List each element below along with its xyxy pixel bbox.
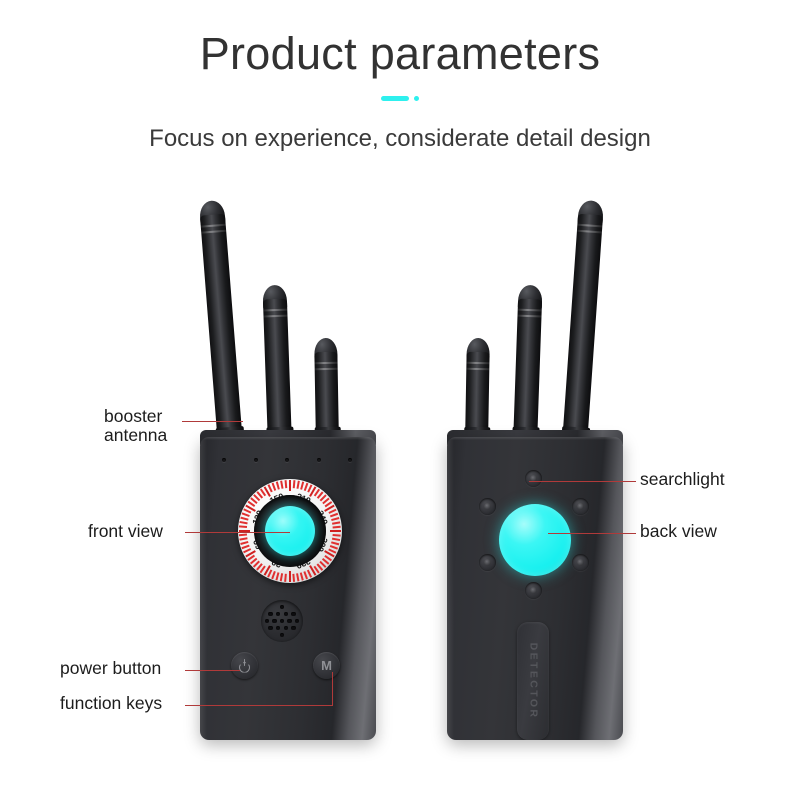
callout-booster-antenna: booster antenna <box>104 407 167 446</box>
dial-tick <box>331 541 339 545</box>
callout-back-view-label: back view <box>640 522 717 542</box>
dial-tick <box>280 573 283 581</box>
leader-line-function-keys-horizontal <box>185 705 333 706</box>
back-body-shell: DETECTOR <box>447 437 623 740</box>
front-led-indicator-row <box>222 457 352 463</box>
led-indicator <box>222 458 226 462</box>
dial-tick <box>239 526 247 528</box>
leader-line-back-view <box>548 533 636 534</box>
led-indicator <box>317 458 321 462</box>
searchlight-led-top <box>525 470 542 487</box>
dial-tick <box>333 526 341 528</box>
product-parameters-infographic: Product parameters Focus on experience, … <box>0 0 800 800</box>
dial-tick <box>240 521 248 524</box>
callout-function-keys: function keys <box>60 694 162 714</box>
dial-tick <box>242 513 250 517</box>
callout-front-view-label: front view <box>88 522 163 542</box>
speaker-hole <box>291 626 296 631</box>
callout-front-view: front view <box>88 522 163 542</box>
page-subtitle: Focus on experience, considerate detail … <box>0 125 800 153</box>
dial-tick <box>285 480 287 488</box>
searchlight-led-bottom-right <box>572 554 589 571</box>
front-lens <box>265 506 315 556</box>
divider-dot <box>414 96 419 101</box>
battery-cover: DETECTOR <box>517 622 549 740</box>
battery-cover-label: DETECTOR <box>527 643 539 720</box>
callout-booster-antenna-line2: antenna <box>104 426 167 445</box>
dial-tick <box>333 534 341 536</box>
callout-booster-antenna-line1: booster <box>104 407 167 426</box>
searchlight-led-top-left <box>479 498 496 515</box>
leader-line-function-keys-vertical <box>332 672 333 706</box>
dial-tick <box>289 480 291 491</box>
power-icon <box>239 660 250 671</box>
dial-tick <box>241 517 249 521</box>
led-indicator <box>285 458 289 462</box>
function-key-label: M <box>321 659 332 672</box>
dial-tick <box>297 481 300 489</box>
dial-tick <box>330 530 341 532</box>
led-indicator <box>348 458 352 462</box>
speaker-hole <box>295 619 300 624</box>
front-view-device: 1201502102403003303060 M <box>196 190 386 750</box>
dial-tick <box>276 572 280 580</box>
dial-tick <box>239 534 247 536</box>
leader-line-power-button <box>185 670 240 671</box>
speaker-hole <box>287 619 292 624</box>
callout-searchlight: searchlight <box>640 470 725 490</box>
antenna-rod <box>263 299 292 446</box>
antenna-rod <box>200 214 243 446</box>
dial-tick <box>293 480 295 488</box>
front-body-shell: 1201502102403003303060 M <box>200 437 376 740</box>
callout-power-button: power button <box>60 659 161 679</box>
callout-back-view: back view <box>640 522 717 542</box>
dial-tick <box>331 517 339 521</box>
callout-power-button-label: power button <box>60 659 161 679</box>
back-searchlight-lens <box>499 504 571 576</box>
callout-function-keys-label: function keys <box>60 694 162 714</box>
function-key-m[interactable]: M <box>313 652 340 679</box>
speaker-hole <box>280 605 285 610</box>
leader-line-searchlight <box>529 481 636 482</box>
dial-tick <box>332 538 340 541</box>
speaker-hole <box>280 619 285 624</box>
direction-finder-dial: 1201502102403003303060 <box>238 479 342 583</box>
antenna-rod <box>513 299 542 446</box>
callout-searchlight-label: searchlight <box>640 470 725 490</box>
led-indicator <box>254 458 258 462</box>
dial-tick <box>276 482 280 490</box>
speaker-hole <box>268 612 273 617</box>
speaker-hole <box>268 626 273 631</box>
leader-line-front-view <box>185 532 290 533</box>
searchlight-led-bottom-left <box>479 554 496 571</box>
accent-divider <box>0 93 800 103</box>
dial-tick <box>300 572 304 580</box>
back-view-device: DETECTOR <box>443 190 633 750</box>
page-title: Product parameters <box>0 28 800 80</box>
antenna-3 <box>562 200 604 446</box>
antenna-1 <box>199 200 243 446</box>
dial-tick <box>297 573 300 581</box>
antenna-2 <box>262 285 292 446</box>
searchlight-led-top-right <box>572 498 589 515</box>
divider-bar <box>381 96 409 101</box>
dial-tick <box>285 574 287 582</box>
dial-tick <box>280 481 283 489</box>
leader-line-booster-antenna <box>182 421 243 422</box>
dial-tick <box>240 538 248 541</box>
speaker-hole <box>276 612 281 617</box>
speaker-hole <box>276 626 281 631</box>
speaker-hole <box>284 626 289 631</box>
antenna-2 <box>513 285 543 446</box>
power-button[interactable] <box>231 652 258 679</box>
speaker-hole <box>265 619 270 624</box>
dial-tick <box>332 521 340 524</box>
speaker-holes <box>261 600 303 642</box>
speaker-hole <box>272 619 277 624</box>
dial-tick <box>289 571 291 582</box>
speaker-grille <box>261 600 303 642</box>
speaker-hole <box>284 612 289 617</box>
antenna-rod <box>562 214 603 446</box>
searchlight-led-bottom <box>525 582 542 599</box>
speaker-hole <box>291 612 296 617</box>
dial-tick <box>293 574 295 582</box>
speaker-hole <box>280 633 285 638</box>
